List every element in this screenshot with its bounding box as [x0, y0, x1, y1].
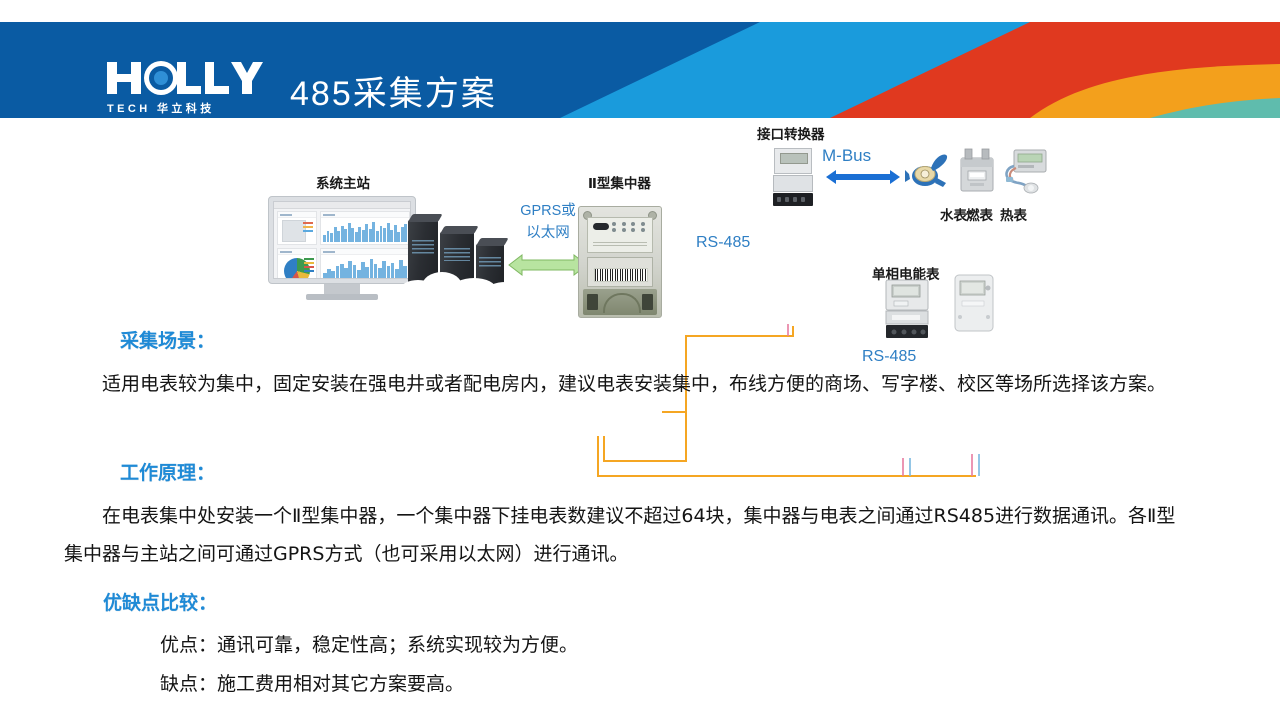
- label-interface-converter: 接口转换器: [757, 123, 825, 143]
- interface-converter-device: [772, 148, 814, 208]
- lcd-display: [780, 153, 808, 164]
- logo-holley-svg: [105, 60, 263, 98]
- dashboard-card-bars-2: [320, 248, 410, 279]
- server-rack-group: [404, 206, 520, 298]
- server-top: [440, 226, 479, 234]
- dashboard-bars: [323, 257, 407, 279]
- panel-text-lines: [593, 242, 647, 248]
- section-title-principle: 工作原理：: [120, 458, 215, 485]
- mbus-bidirectional-arrow-icon: [826, 170, 900, 184]
- cons-text: 缺点：施工费用相对其它方案要高。: [160, 669, 464, 696]
- dashboard-card-grid: [277, 211, 317, 245]
- gprs-bidirectional-arrow-icon: [508, 254, 588, 276]
- page-title: 485采集方案: [290, 66, 497, 115]
- pros-text: 优点：通讯可靠，稳定性高；系统实现较为方便。: [160, 630, 578, 657]
- label-heat-meter: 热表: [1000, 204, 1027, 224]
- heat-meter-icon: [1000, 148, 1050, 196]
- concentrator-window: [593, 223, 609, 230]
- barcode-icon: [594, 268, 648, 282]
- slide-header: TECH 华立科技 485采集方案: [0, 22, 1280, 118]
- holley-logo: TECH 华立科技: [105, 60, 265, 116]
- label-concentrator: Ⅱ型集中器: [588, 172, 651, 192]
- dashboard-topbar: [274, 202, 410, 209]
- dashboard-card-pie: [277, 248, 317, 279]
- concentrator-panel: [587, 217, 653, 253]
- monitor-bezel: [268, 196, 416, 284]
- card-header: [278, 212, 316, 218]
- server-top: [476, 238, 509, 246]
- dashboard-bars: [323, 220, 407, 242]
- gas-meter-icon: [958, 146, 996, 196]
- label-gprs-line1: GPRS或: [508, 202, 588, 221]
- concentrator-terminal-block: [583, 289, 657, 315]
- logo-wordmark: [105, 60, 265, 96]
- section-title-scenario: 采集场景：: [120, 326, 215, 353]
- monitor-stand: [324, 284, 360, 294]
- server-top: [408, 214, 443, 222]
- label-gprs-line2: 以太网: [508, 224, 588, 243]
- monitor-base: [306, 294, 378, 300]
- paragraph-scenario: 适用电表较为集中，固定安装在强电井或者配电房内，建议电表安装集中，布线方便的商场…: [64, 365, 1184, 403]
- dashboard-legend: [304, 258, 314, 274]
- single-phase-meter-icon-1: [884, 278, 930, 340]
- section-title-comparison: 优缺点比较：: [103, 588, 217, 615]
- single-phase-meter-icon-2: [953, 273, 995, 335]
- slide: TECH 华立科技 485采集方案 系统主站: [0, 0, 1280, 720]
- led-indicators: [612, 222, 648, 232]
- dashboard-legend: [303, 222, 313, 234]
- monitor-screen: [273, 201, 411, 279]
- card-header: [321, 249, 409, 255]
- label-rs485-bottom: RS-485: [862, 348, 916, 366]
- label-mbus: M-Bus: [822, 146, 871, 166]
- terminal-cover: [603, 293, 641, 313]
- paragraph-principle: 在电表集中处安装一个Ⅱ型集中器，一个集中器下挂电表数建议不超过64块，集中器与电…: [64, 497, 1184, 573]
- logo-subtitle: TECH 华立科技: [107, 100, 215, 116]
- dashboard-card-bars-1: [320, 211, 410, 245]
- label-gas-meter: 燃表: [966, 204, 993, 224]
- converter-top: [774, 148, 812, 174]
- terminal: [642, 294, 653, 310]
- converter-middle: [773, 175, 813, 192]
- concentrator-device: [578, 206, 662, 318]
- terminal: [587, 294, 598, 310]
- label-rs485-top: RS-485: [696, 234, 750, 252]
- card-header: [321, 212, 409, 218]
- concentrator-label-plate: [587, 257, 653, 287]
- water-meter-icon: [905, 150, 949, 196]
- master-station-monitor: [268, 196, 416, 301]
- converter-terminals: [773, 193, 813, 206]
- label-water-meter: 水表: [940, 204, 967, 224]
- label-master-station: 系统主站: [316, 172, 370, 192]
- card-header: [278, 249, 316, 255]
